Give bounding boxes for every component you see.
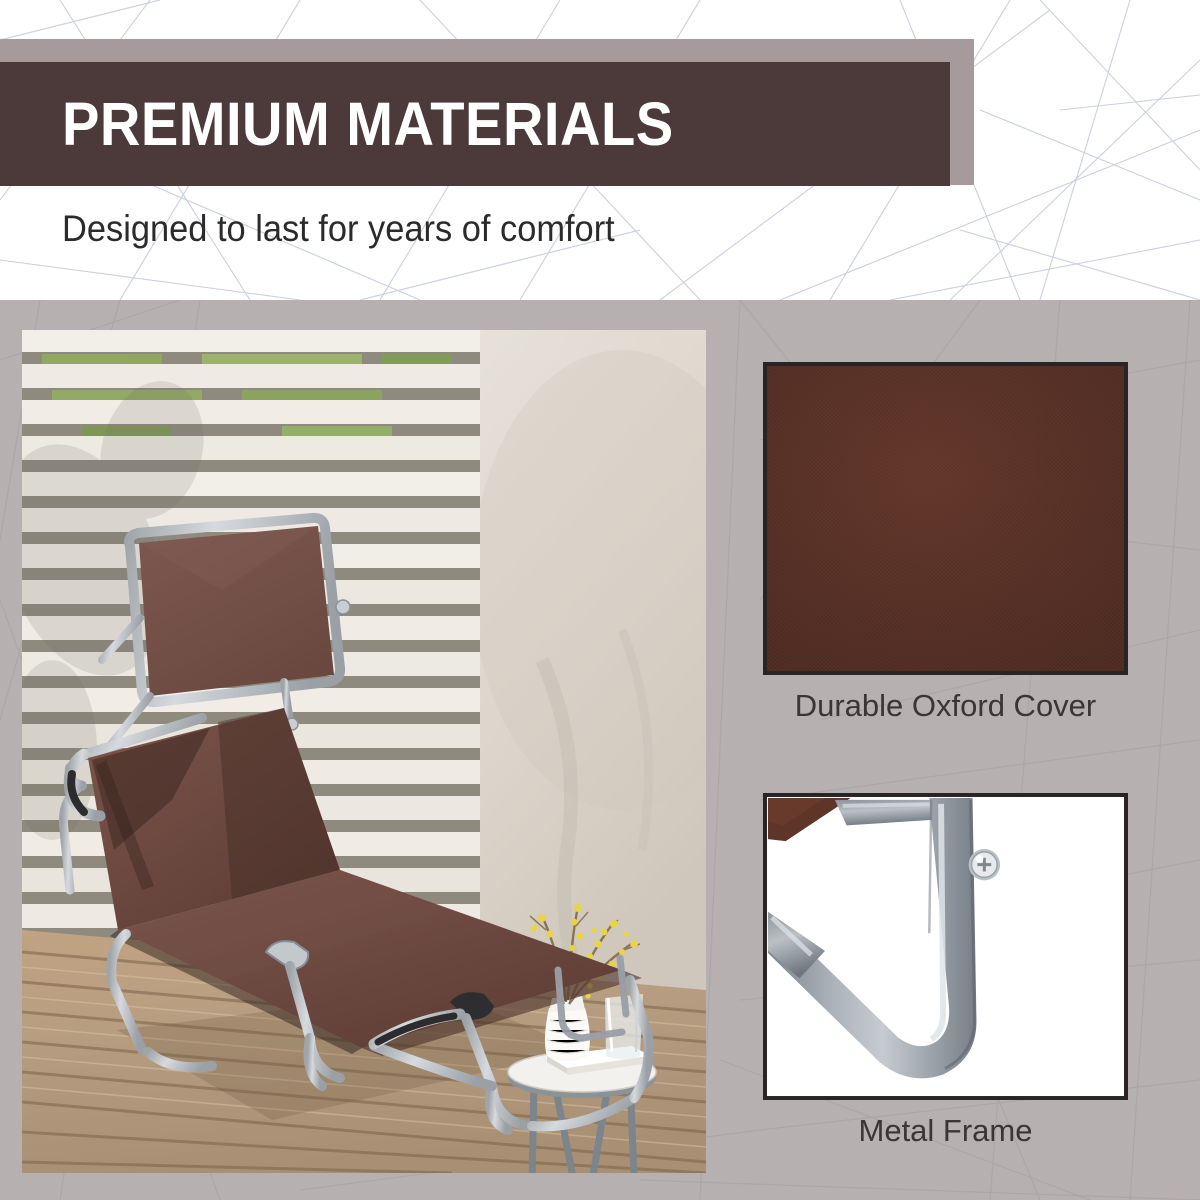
hero-product-photo xyxy=(22,330,706,1173)
oxford-fabric-swatch-image xyxy=(766,365,1125,672)
metal-frame-detail-image xyxy=(766,796,1125,1097)
metal-frame-panel xyxy=(763,793,1128,1100)
page-title: PREMIUM MATERIALS xyxy=(62,89,674,159)
fabric-swatch-caption: Durable Oxford Cover xyxy=(763,688,1128,724)
header-section: PREMIUM MATERIALS Designed to last for y… xyxy=(0,0,1200,300)
page-subtitle: Designed to last for years of comfort xyxy=(62,208,615,250)
fabric-swatch-panel xyxy=(763,362,1128,675)
banner-title-bar: PREMIUM MATERIALS xyxy=(0,62,950,186)
metal-frame-caption: Metal Frame xyxy=(763,1113,1128,1149)
hero-scene-illustration xyxy=(22,330,706,1173)
infographic-page: PREMIUM MATERIALS Designed to last for y… xyxy=(0,0,1200,1200)
